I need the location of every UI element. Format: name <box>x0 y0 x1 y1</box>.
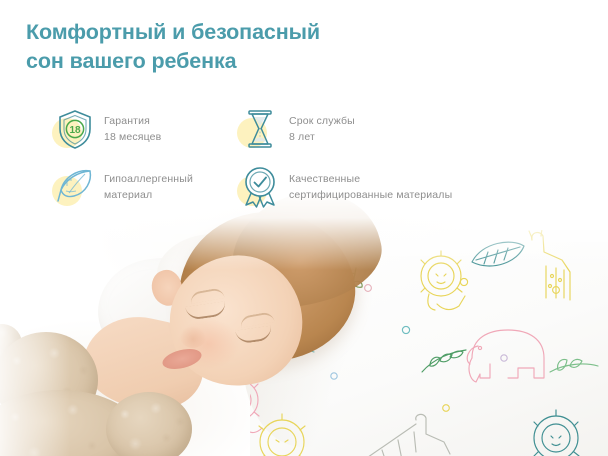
feature-item-hypoallergenic: Гипоаллергенный материал <box>52 164 237 210</box>
feature-item-warranty: 18 Гарантия 18 месяцев <box>52 106 237 152</box>
page-title: Комфортный и безопасный сон вашего ребен… <box>26 18 446 75</box>
feature-text: Гипоаллергенный материал <box>104 164 193 204</box>
award-badge-icon <box>237 164 283 210</box>
headline-line-1: Комфортный и безопасный <box>26 20 320 44</box>
feature-line-2: 8 лет <box>289 130 355 146</box>
feature-line-1: Срок службы <box>289 115 355 127</box>
promo-banner: Комфортный и безопасный сон вашего ребен… <box>0 0 608 456</box>
feature-text: Срок службы 8 лет <box>289 106 355 146</box>
feature-row-1: 18 Гарантия 18 месяцев <box>52 106 522 152</box>
headline-line-2: сон вашего ребенка <box>26 47 446 76</box>
shield-18-icon: 18 <box>52 106 98 152</box>
shield-badge-number: 18 <box>69 125 81 136</box>
feature-row-2: Гипоаллергенный материал Качест <box>52 164 522 210</box>
feature-item-certified: Качественные сертифицированные материалы <box>237 164 522 210</box>
feature-item-service-life: Срок службы 8 лет <box>237 106 522 152</box>
feature-line-2: материал <box>104 188 193 204</box>
feature-line-1: Качественные <box>289 173 360 185</box>
teddy-paw <box>106 392 192 456</box>
hourglass-icon <box>237 106 283 152</box>
feature-line-2: 18 месяцев <box>104 130 161 146</box>
feature-line-1: Гарантия <box>104 115 150 127</box>
feature-text: Гарантия 18 месяцев <box>104 106 161 146</box>
feature-line-2: сертифицированные материалы <box>289 188 452 204</box>
feature-line-1: Гипоаллергенный <box>104 173 193 185</box>
feature-text: Качественные сертифицированные материалы <box>289 164 452 204</box>
feather-icon <box>52 164 98 210</box>
feature-list: 18 Гарантия 18 месяцев <box>52 106 522 210</box>
hero-photo <box>0 190 608 456</box>
